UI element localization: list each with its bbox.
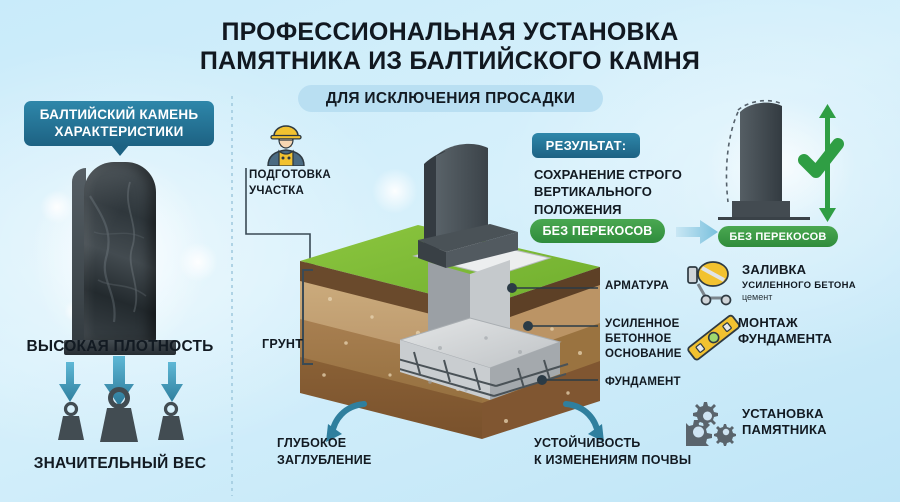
subtitle-pill: ДЛЯ ИСКЛЮЧЕНИЯ ПРОСАДКИ: [298, 85, 603, 112]
no-tilt-pill-left: БЕЗ ПЕРЕКОСОВ: [530, 219, 665, 243]
vertical-dotted-divider: [231, 96, 233, 496]
callout-concrete-base: УСИЛЕННОЕ БЕТОННОЕ ОСНОВАНИЕ: [605, 317, 682, 363]
result-text-line-1: СОХРАНЕНИЕ СТРОГО: [534, 166, 709, 183]
result-text-line-3: ПОЛОЖЕНИЯ: [534, 201, 709, 218]
weight-icon: [55, 400, 87, 447]
callout-concrete-line-1: УСИЛЕННОЕ: [605, 317, 682, 332]
callout-leader-lines: [498, 268, 608, 393]
page-title: ПРОФЕССИОНАЛЬНАЯ УСТАНОВКА ПАМЯТНИКА ИЗ …: [150, 18, 750, 77]
callout-foundation: ФУНДАМЕНТ: [605, 375, 681, 390]
weight-icon: [155, 400, 187, 447]
gears-icon: [686, 398, 740, 446]
no-tilt-pill-right: БЕЗ ПЕРЕКОСОВ: [718, 226, 838, 247]
row-mount-foundation: МОНТАЖ ФУНДАМЕНТА: [738, 315, 888, 348]
spirit-level-icon: [686, 310, 742, 366]
concrete-mixer-icon: [686, 258, 738, 306]
soil-stability-line-2: К ИЗМЕНЕНИЯМ ПОЧВЫ: [534, 452, 724, 469]
result-badge: РЕЗУЛЬТАТ:: [532, 133, 640, 158]
granite-monument-icon: [84, 162, 156, 342]
callout-concrete-line-2: БЕТОННОЕ: [605, 332, 682, 347]
weight-label: ЗНАЧИТЕЛЬНЫЙ ВЕС: [14, 455, 226, 473]
row-pour-title: ЗАЛИВКА: [742, 262, 892, 278]
row-pour-sub2: цемент: [742, 292, 892, 302]
left-panel-badge: БАЛТИЙСКИЙ КАМЕНЬ ХАРАКТЕРИСТИКИ: [24, 101, 214, 146]
deep-embedding-line-2: ЗАГЛУБЛЕНИЕ: [277, 452, 407, 469]
page-title-line-1: ПРОФЕССИОНАЛЬНАЯ УСТАНОВКА: [150, 18, 750, 47]
result-text-line-2: ВЕРТИКАЛЬНОГО: [534, 183, 709, 200]
deep-embedding-line-1: ГЛУБОКОЕ: [277, 435, 407, 452]
callout-armatura: АРМАТУРА: [605, 279, 669, 294]
row-pour-concrete: ЗАЛИВКА УСИЛЕННОГО БЕТОНА цемент: [742, 262, 892, 302]
infographic-canvas: ПРОФЕССИОНАЛЬНАЯ УСТАНОВКА ПАМЯТНИКА ИЗ …: [0, 0, 900, 502]
left-panel-badge-line-2: ХАРАКТЕРИСТИКИ: [55, 124, 184, 141]
left-panel-badge-line-1: БАЛТИЙСКИЙ КАМЕНЬ: [40, 107, 198, 124]
row-install-title-line-2: ПАМЯТНИКА: [742, 422, 892, 438]
result-text: СОХРАНЕНИЕ СТРОГО ВЕРТИКАЛЬНОГО ПОЛОЖЕНИ…: [534, 166, 709, 218]
row-install-monument: УСТАНОВКА ПАМЯТНИКА: [742, 406, 892, 439]
green-check-icon: [804, 144, 838, 172]
weight-icon: [94, 385, 144, 450]
row-mount-title-line-1: МОНТАЖ: [738, 315, 888, 331]
vertical-monument-illustration: [712, 98, 852, 226]
deep-embedding-label: ГЛУБОКОЕ ЗАГЛУБЛЕНИЕ: [277, 435, 407, 469]
row-mount-title-line-2: ФУНДАМЕНТА: [738, 331, 888, 347]
callout-concrete-line-3: ОСНОВАНИЕ: [605, 347, 682, 362]
soil-depth-bracket: [300, 268, 316, 368]
density-label: ВЫСОКАЯ ПЛОТНОСТЬ: [16, 338, 224, 356]
soil-label: ГРУНТ: [262, 337, 303, 351]
row-install-title-line-1: УСТАНОВКА: [742, 406, 892, 422]
page-title-line-2: ПАМЯТНИКА ИЗ БАЛТИЙСКОГО КАМНЯ: [150, 47, 750, 76]
row-pour-sub1: УСИЛЕННОГО БЕТОНА: [742, 280, 892, 291]
center-monument: [414, 140, 534, 268]
sparkle-decoration: [372, 168, 418, 214]
